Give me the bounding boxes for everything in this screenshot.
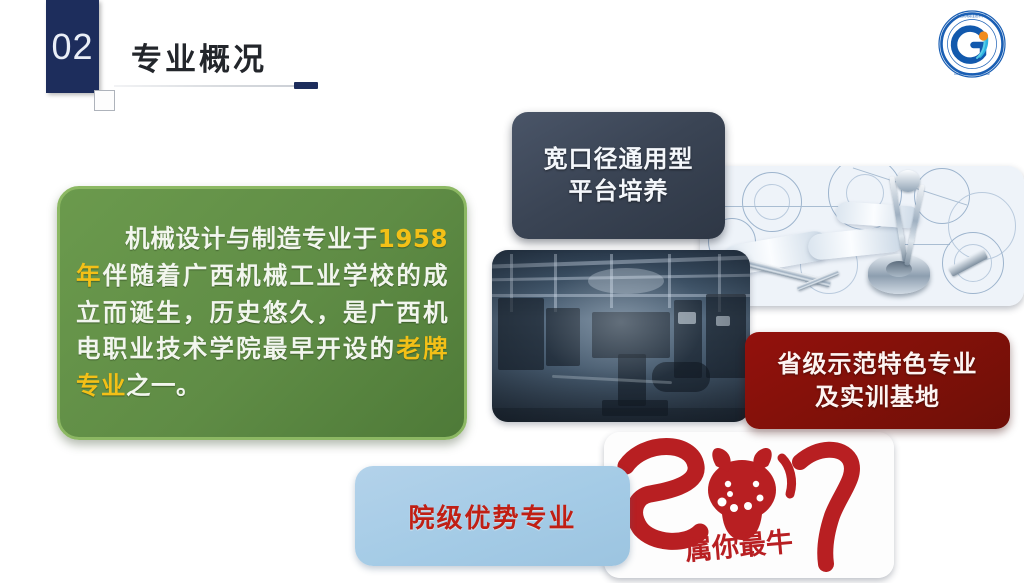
svg-text:广西机电职业技术学院: 广西机电职业技术学院 (957, 13, 987, 18)
program-overview-text: 机械设计与制造专业于1958年伴随着广西机械工业学校的成立而诞生，历史悠久，是广… (76, 221, 448, 405)
factory-workshop-photo (492, 250, 750, 422)
year-of-ox-2021-photo: 属你最牛 (604, 432, 894, 578)
college-advantage-callout: 院级优势专业 (355, 466, 630, 566)
page-title: 专业概况 (131, 34, 267, 79)
slide-canvas: 02 专业概况 广西机电职业技术学院 GUANGXI VOCATIONAL CO… (0, 0, 1024, 583)
provincial-demo-line-1: 省级示范特色专业 (778, 348, 978, 380)
title-underline (114, 85, 317, 87)
section-number-text: 02 (51, 26, 93, 68)
svg-text:GUANGXI VOCATIONAL COLLEGE: GUANGXI VOCATIONAL COLLEGE (954, 73, 991, 76)
provincial-demo-callout: 省级示范特色专业 及实训基地 (745, 332, 1010, 429)
overview-text-part-3: 之一。 (126, 371, 201, 400)
decorative-square (94, 90, 115, 111)
program-overview-box: 机械设计与制造专业于1958年伴随着广西机械工业学校的成立而诞生，历史悠久，是广… (57, 186, 467, 440)
platform-training-line-1: 宽口径通用型 (544, 144, 694, 176)
overview-text-part-2: 伴随着广西机械工业学校的成立而诞生，历史悠久，是广西机电职业技术学院最早开设的 (76, 261, 448, 364)
section-number-badge: 02 (46, 0, 99, 93)
platform-training-line-2: 平台培养 (569, 176, 669, 208)
platform-training-callout: 宽口径通用型 平台培养 (512, 112, 725, 239)
provincial-demo-line-2: 及实训基地 (815, 381, 940, 413)
college-advantage-line-1: 院级优势专业 (408, 498, 576, 535)
title-underline-cap (294, 82, 318, 89)
college-logo: 广西机电职业技术学院 GUANGXI VOCATIONAL COLLEGE (936, 8, 1008, 80)
overview-text-part-1: 机械设计与制造专业于 (125, 224, 378, 253)
